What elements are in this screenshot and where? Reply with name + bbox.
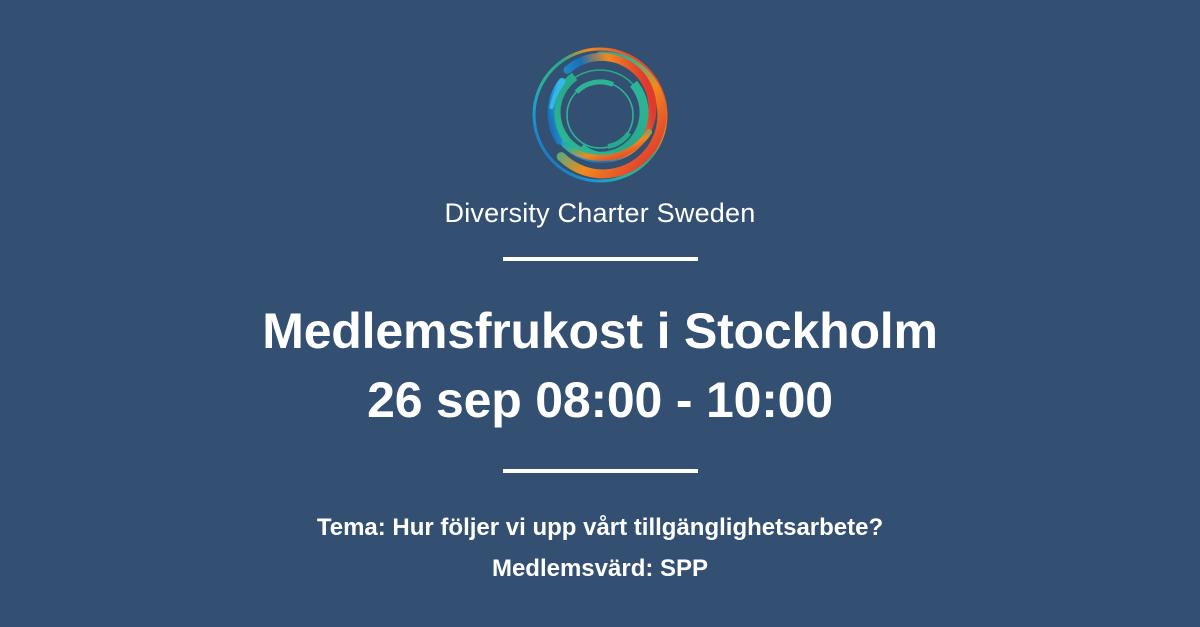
event-host: Medlemsvärd: SPP [317,548,883,589]
brand-block: Diversity Charter Sweden [445,44,756,227]
details-block: Tema: Hur följer vi upp vårt tillgänglig… [317,507,883,590]
event-announcement-card: Diversity Charter Sweden Medlemsfrukost … [0,0,1200,627]
divider-bottom [503,469,698,473]
headline-block: Medlemsfrukost i Stockholm 26 sep 08:00 … [262,297,938,435]
event-title: Medlemsfrukost i Stockholm [262,297,938,366]
diversity-charter-concentric-rings-logo-icon [529,44,671,186]
divider-top [503,257,698,261]
event-theme: Tema: Hur följer vi upp vårt tillgänglig… [317,507,883,548]
brand-name: Diversity Charter Sweden [445,200,756,227]
event-datetime: 26 sep 08:00 - 10:00 [262,366,938,435]
